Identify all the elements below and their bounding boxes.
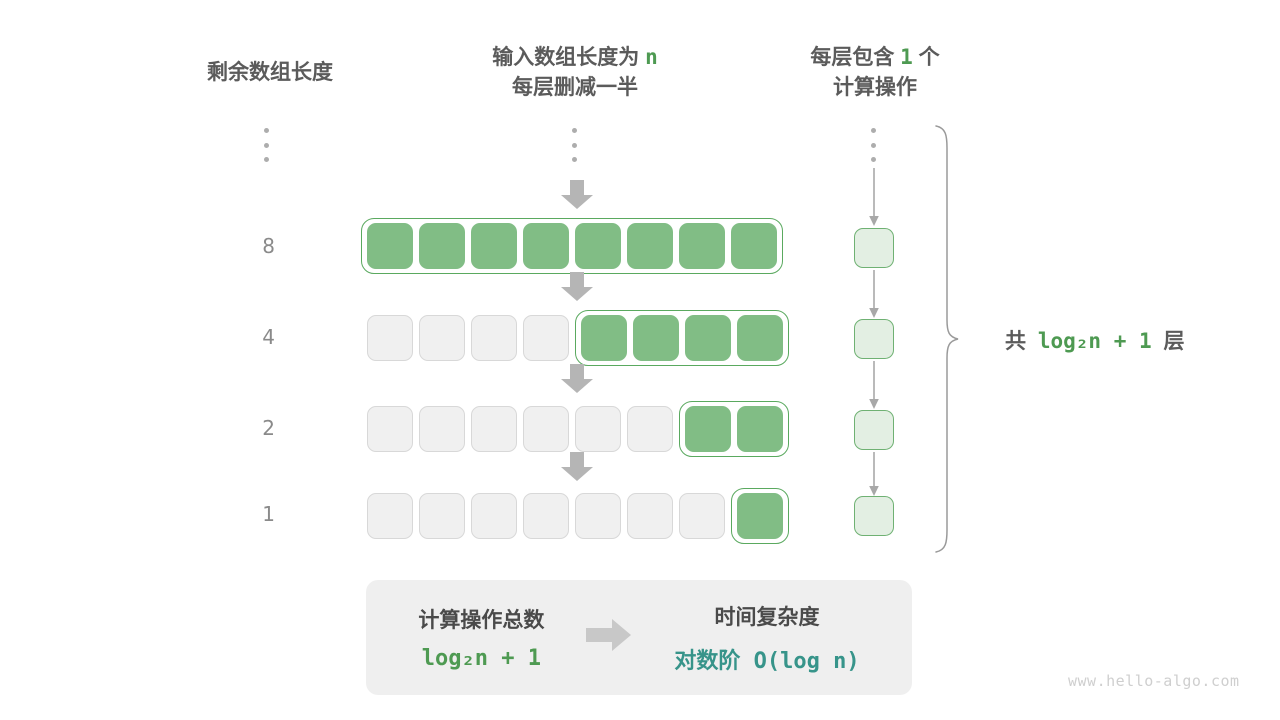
array-cell-empty[interactable] (419, 406, 465, 452)
operation-cell[interactable] (854, 496, 894, 536)
array-cell-empty[interactable] (627, 406, 673, 452)
summary-left-column: 计算操作总数 log₂n + 1 (418, 604, 544, 671)
array-cell-full[interactable] (679, 223, 725, 269)
array-cell-empty[interactable] (523, 315, 569, 361)
array-row-4 (361, 310, 789, 366)
array-cell-empty[interactable] (523, 406, 569, 452)
array-cell-empty[interactable] (419, 315, 465, 361)
dot (264, 143, 269, 148)
array-cell-empty[interactable] (575, 406, 621, 452)
watermark: www.hello-algo.com (1068, 672, 1240, 690)
summary-left-title: 计算操作总数 (418, 604, 544, 634)
operation-cell[interactable] (854, 410, 894, 450)
down-arrow-icon (560, 452, 594, 487)
array-row-2 (361, 401, 789, 457)
ellipsis-left-column (264, 128, 269, 162)
array-cell-empty[interactable] (471, 406, 517, 452)
summary-left-value: log₂n + 1 (418, 646, 544, 671)
header-middle-line2: 每层删减一半 (455, 73, 695, 103)
array-cell-full[interactable] (685, 315, 731, 361)
header-right-ops-per-level: 每层包含 1 个 计算操作 (775, 42, 975, 103)
array-cell-full[interactable] (581, 315, 627, 361)
operation-cell[interactable] (854, 319, 894, 359)
array-cell-empty[interactable] (627, 493, 673, 539)
array-cell-empty[interactable] (471, 315, 517, 361)
header-left-remaining-length: 剩余数组长度 (170, 58, 370, 88)
active-segment-group (679, 401, 789, 457)
dot (871, 128, 876, 133)
header-right-one-accent: 1 (900, 45, 913, 69)
row-label-2: 2 (215, 416, 275, 440)
array-cell-empty[interactable] (367, 315, 413, 361)
header-right-line2: 计算操作 (775, 73, 975, 103)
dot (572, 143, 577, 148)
discarded-segment (361, 488, 731, 544)
dot (264, 128, 269, 133)
dot (572, 128, 577, 133)
array-cell-full[interactable] (633, 315, 679, 361)
active-segment-group (575, 310, 789, 366)
dot (572, 157, 577, 162)
array-cell-full[interactable] (471, 223, 517, 269)
array-cell-full[interactable] (731, 223, 777, 269)
brace-label-prefix: 共 (1005, 330, 1026, 353)
array-cell-empty[interactable] (367, 406, 413, 452)
right-arrow-icon (586, 618, 632, 657)
operation-cell[interactable] (854, 228, 894, 268)
array-cell-empty[interactable] (575, 493, 621, 539)
summary-right-column: 时间复杂度 对数阶 O(log n) (674, 601, 859, 675)
row-label-8: 8 (215, 234, 275, 258)
array-cell-full[interactable] (627, 223, 673, 269)
array-cell-full[interactable] (737, 406, 783, 452)
active-segment-group (731, 488, 789, 544)
flow-arrow-icon (867, 270, 881, 325)
diagram-canvas: 剩余数组长度 输入数组长度为 n 每层删减一半 每层包含 1 个 计算操作 8 … (0, 0, 1280, 720)
ellipsis-middle-column (572, 128, 577, 162)
array-cell-full[interactable] (685, 406, 731, 452)
summary-right-title: 时间复杂度 (674, 601, 859, 631)
array-cell-empty[interactable] (471, 493, 517, 539)
discarded-segment (361, 401, 679, 457)
row-label-1: 1 (215, 502, 275, 526)
brace-label-accent: log₂n + 1 (1038, 329, 1152, 353)
header-middle-input-array: 输入数组长度为 n 每层删减一半 (455, 42, 695, 103)
dot (871, 143, 876, 148)
array-cell-empty[interactable] (367, 493, 413, 539)
down-arrow-icon (560, 272, 594, 307)
brace-label-total-levels: 共 log₂n + 1 层 (1005, 325, 1184, 355)
array-cell-empty[interactable] (679, 493, 725, 539)
discarded-segment (361, 310, 575, 366)
summary-box: 计算操作总数 log₂n + 1 时间复杂度 对数阶 O(log n) (366, 580, 912, 695)
array-cell-full[interactable] (737, 315, 783, 361)
array-cell-full[interactable] (575, 223, 621, 269)
array-cell-full[interactable] (737, 493, 783, 539)
brace-label-suffix: 层 (1163, 330, 1184, 353)
dot (264, 157, 269, 162)
row-label-4: 4 (215, 325, 275, 349)
array-row-1 (361, 488, 789, 544)
down-arrow-icon (560, 180, 594, 215)
ellipsis-right-column (871, 128, 876, 162)
flow-arrow-icon (867, 361, 881, 416)
array-cell-full[interactable] (419, 223, 465, 269)
array-cell-full[interactable] (523, 223, 569, 269)
active-segment-group (361, 218, 783, 274)
header-right-line1-suffix: 个 (919, 46, 940, 69)
header-right-line1-prefix: 每层包含 (810, 46, 894, 69)
summary-right-value: 对数阶 O(log n) (674, 643, 859, 675)
header-middle-line1: 输入数组长度为 n (455, 42, 695, 73)
header-middle-n-accent: n (645, 45, 658, 69)
dot (871, 157, 876, 162)
array-row-8 (361, 218, 783, 274)
array-cell-empty[interactable] (419, 493, 465, 539)
brace-icon (930, 124, 964, 559)
down-arrow-icon (560, 364, 594, 399)
array-cell-empty[interactable] (523, 493, 569, 539)
header-middle-line1-prefix: 输入数组长度为 (492, 46, 639, 69)
array-cell-full[interactable] (367, 223, 413, 269)
flow-arrow-icon (867, 168, 881, 233)
header-left-text: 剩余数组长度 (207, 61, 333, 84)
header-right-line1: 每层包含 1 个 (775, 42, 975, 73)
